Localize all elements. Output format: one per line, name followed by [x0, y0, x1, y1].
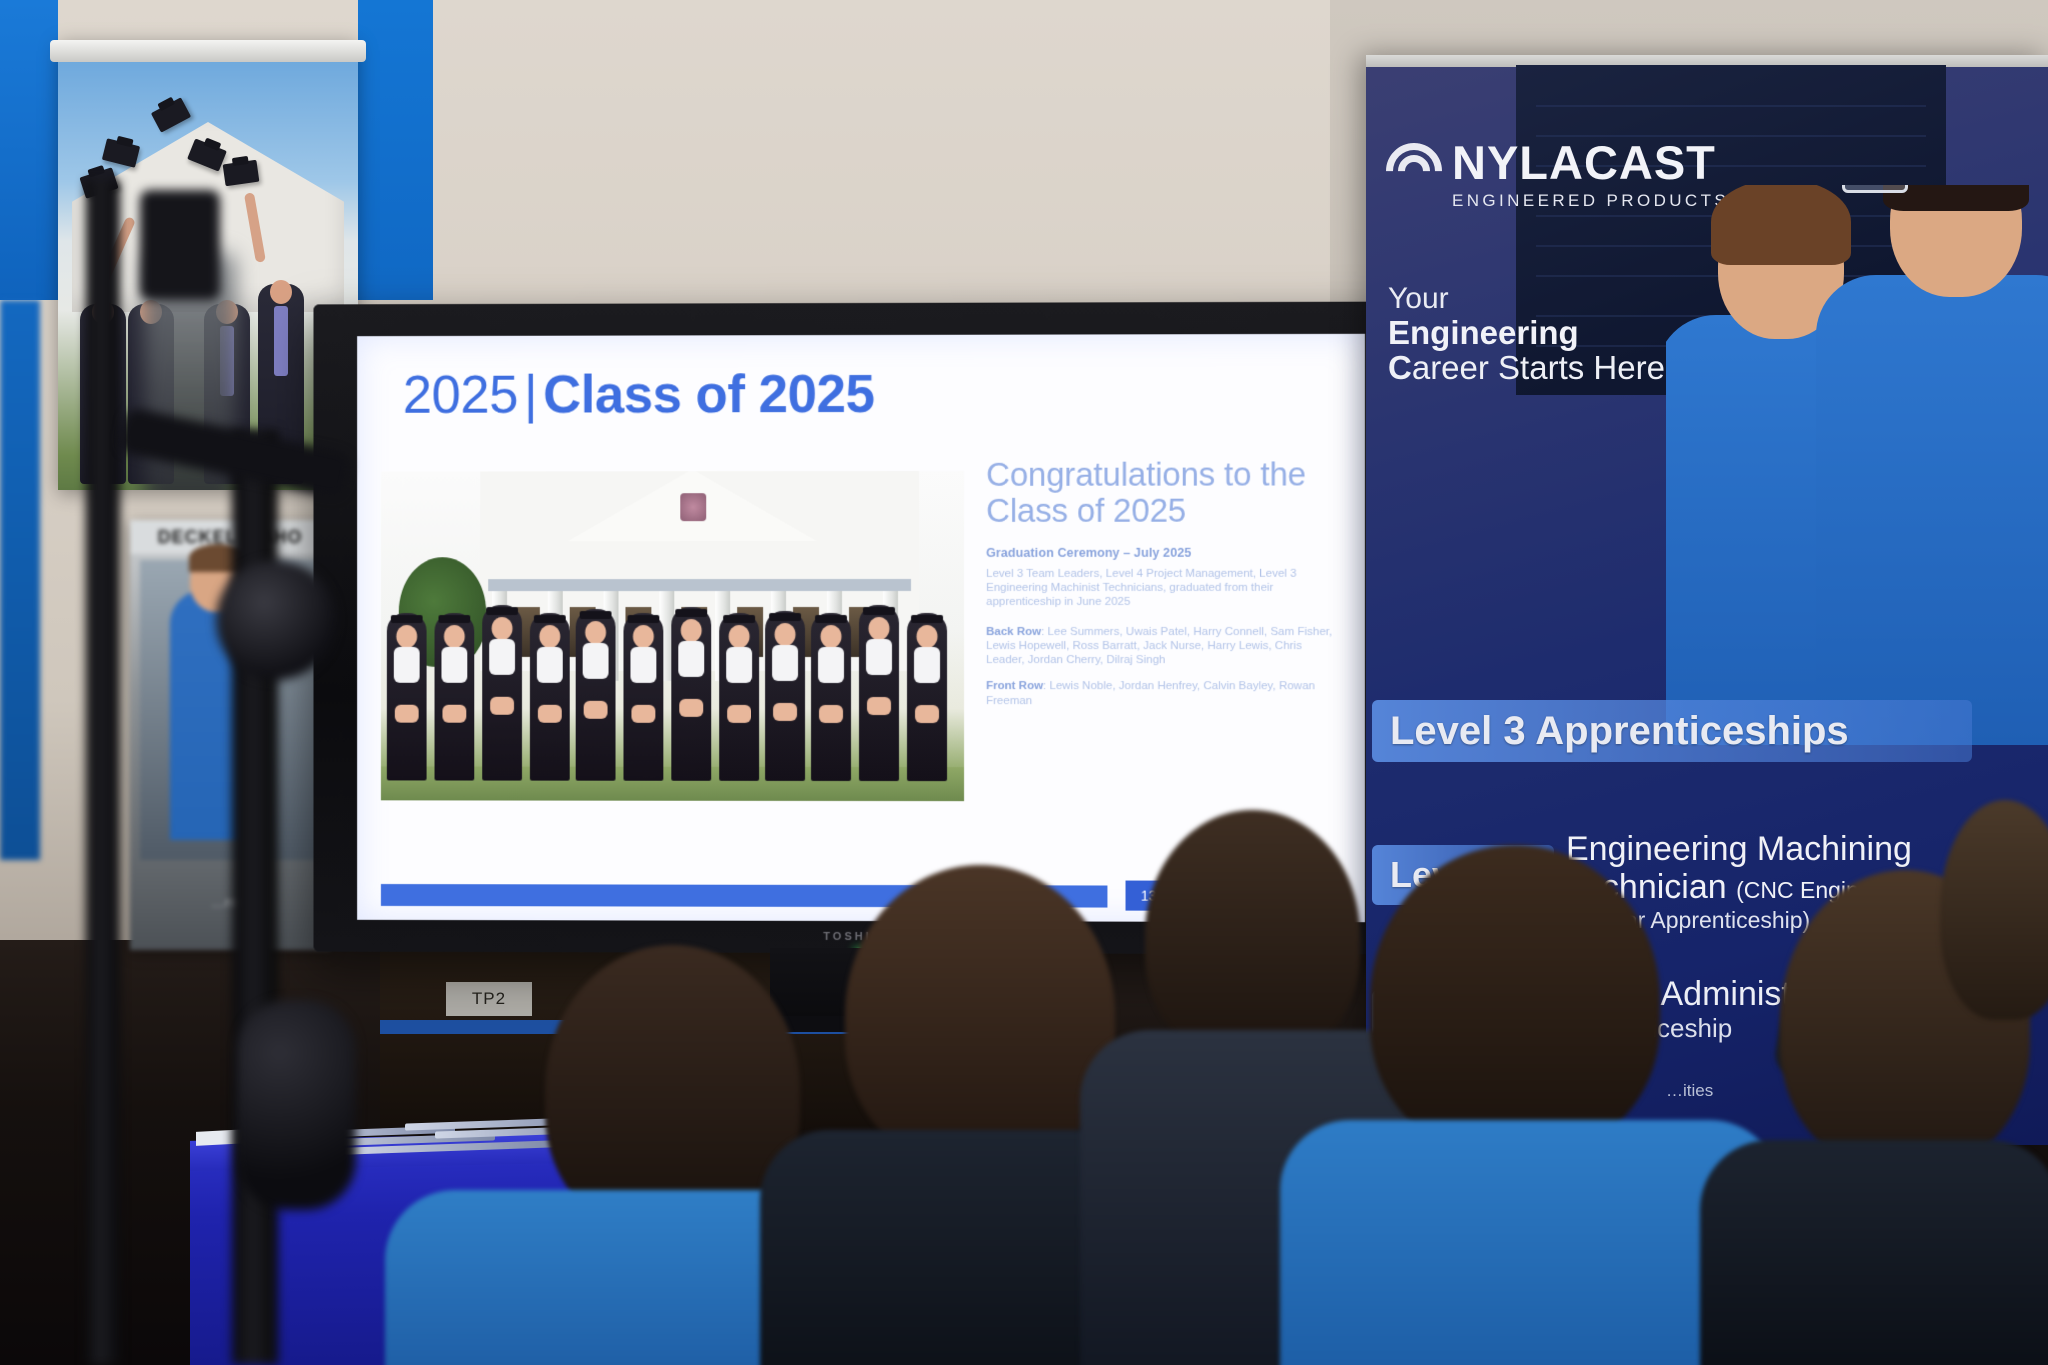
- slide-title-separator: |: [518, 366, 543, 425]
- camera-head: [140, 190, 220, 300]
- level-3-apprenticeships-heading: Level 3 Apprenticeships: [1372, 700, 1972, 762]
- tripod-grip: [238, 1000, 356, 1210]
- blue-wall-strip: [0, 300, 40, 860]
- tripod-knob: [216, 560, 336, 680]
- front-row-label: Front Row: [986, 681, 1043, 693]
- nylacast-swirl-icon: [1386, 143, 1442, 199]
- audience-head: [1370, 845, 1660, 1155]
- audience-head: [1145, 810, 1360, 1060]
- slide-title-year: 2025: [403, 366, 518, 425]
- back-row-label: Back Row: [986, 626, 1041, 638]
- scene-root: TP2: [0, 0, 2048, 1365]
- audience-head: [845, 865, 1115, 1165]
- shelf-label-tp2: TP2: [446, 982, 532, 1016]
- ceremony-blurb: Level 3 Team Leaders, Level 4 Project Ma…: [986, 566, 1341, 609]
- class-group-photo: [381, 471, 964, 801]
- mortarboard-icon: [151, 97, 191, 132]
- nylacast-brand-text: NYLACAST: [1452, 139, 1729, 186]
- tagline-line-2: Engineering: [1388, 315, 1674, 350]
- tagline-line-3: Career Starts Here!: [1388, 350, 1674, 385]
- audience-body: [1700, 1140, 2048, 1365]
- slide-photo-column: [381, 453, 964, 881]
- building-crest: [680, 493, 706, 521]
- safety-glasses-icon: [1842, 185, 1908, 193]
- tripod-pole: [86, 180, 120, 1365]
- banner-roller-bar: [50, 40, 366, 62]
- tagline-line-3-rest: areer Starts Here!: [1412, 349, 1674, 386]
- front-row-block: Front Row: Lewis Noble, Jordan Henfrey, …: [986, 680, 1341, 709]
- graduates-row: [381, 581, 964, 781]
- poster-centre-text: …ntre: [130, 894, 330, 910]
- mortarboard-icon: [102, 138, 140, 168]
- graduate-stole: [274, 306, 288, 376]
- apprentices-photo: [1666, 185, 2048, 745]
- tagline-line-3-bold: C: [1388, 349, 1412, 386]
- slide-body: Congratulations to the Class of 2025 Gra…: [381, 452, 1341, 882]
- mortarboard-icon: [223, 160, 260, 187]
- ceremony-subheading: Graduation Ceremony – July 2025: [986, 545, 1341, 559]
- banner-tagline: Your Engineering Career Starts Here!: [1388, 283, 1674, 386]
- congratulations-heading: Congratulations to the Class of 2025: [986, 456, 1341, 529]
- tagline-line-1: Your: [1388, 283, 1674, 315]
- back-row-block: Back Row: Lee Summers, Uwais Patel, Harr…: [986, 625, 1341, 668]
- blue-pillar: [358, 0, 433, 300]
- banner-footer-partial: …ities: [1666, 1081, 1713, 1101]
- apprentice-figure-right: [1816, 275, 2048, 745]
- apprentice-hair-left: [1711, 185, 1851, 265]
- slide-title-main: Class of 2025: [543, 365, 874, 425]
- graduate-head: [270, 280, 292, 304]
- slide-title: 2025|Class of 2025: [403, 366, 1335, 423]
